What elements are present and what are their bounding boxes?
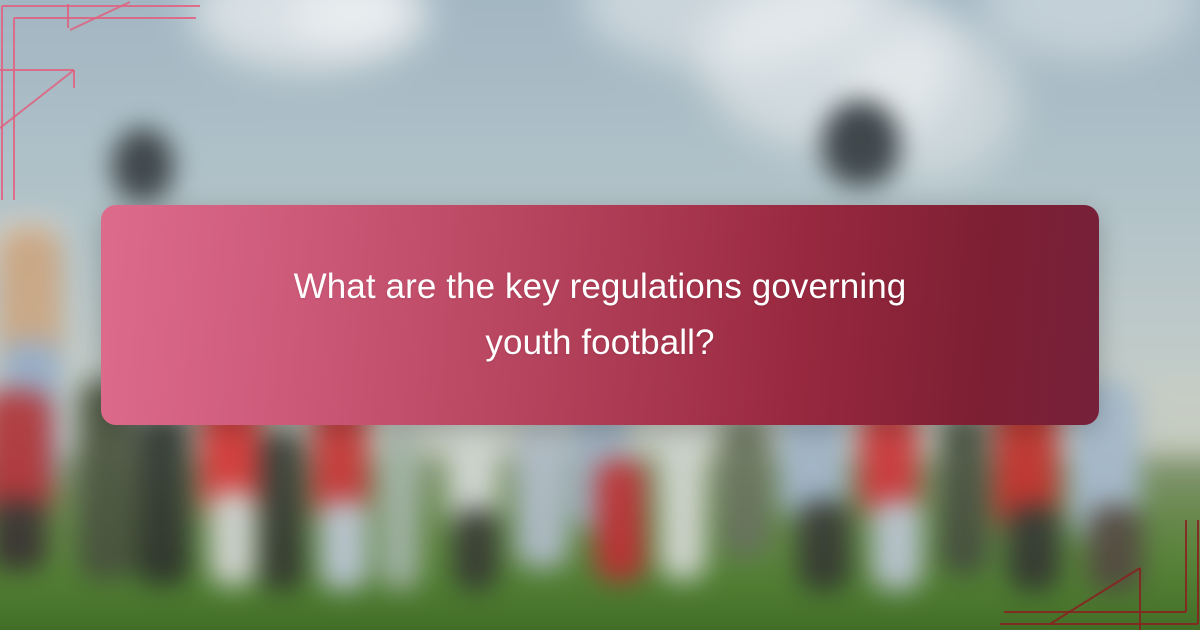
question-card: What are the key regulations governing y… <box>101 205 1099 425</box>
screenshot-stage: What are the key regulations governing y… <box>0 0 1200 630</box>
question-title: What are the key regulations governing y… <box>250 259 950 371</box>
